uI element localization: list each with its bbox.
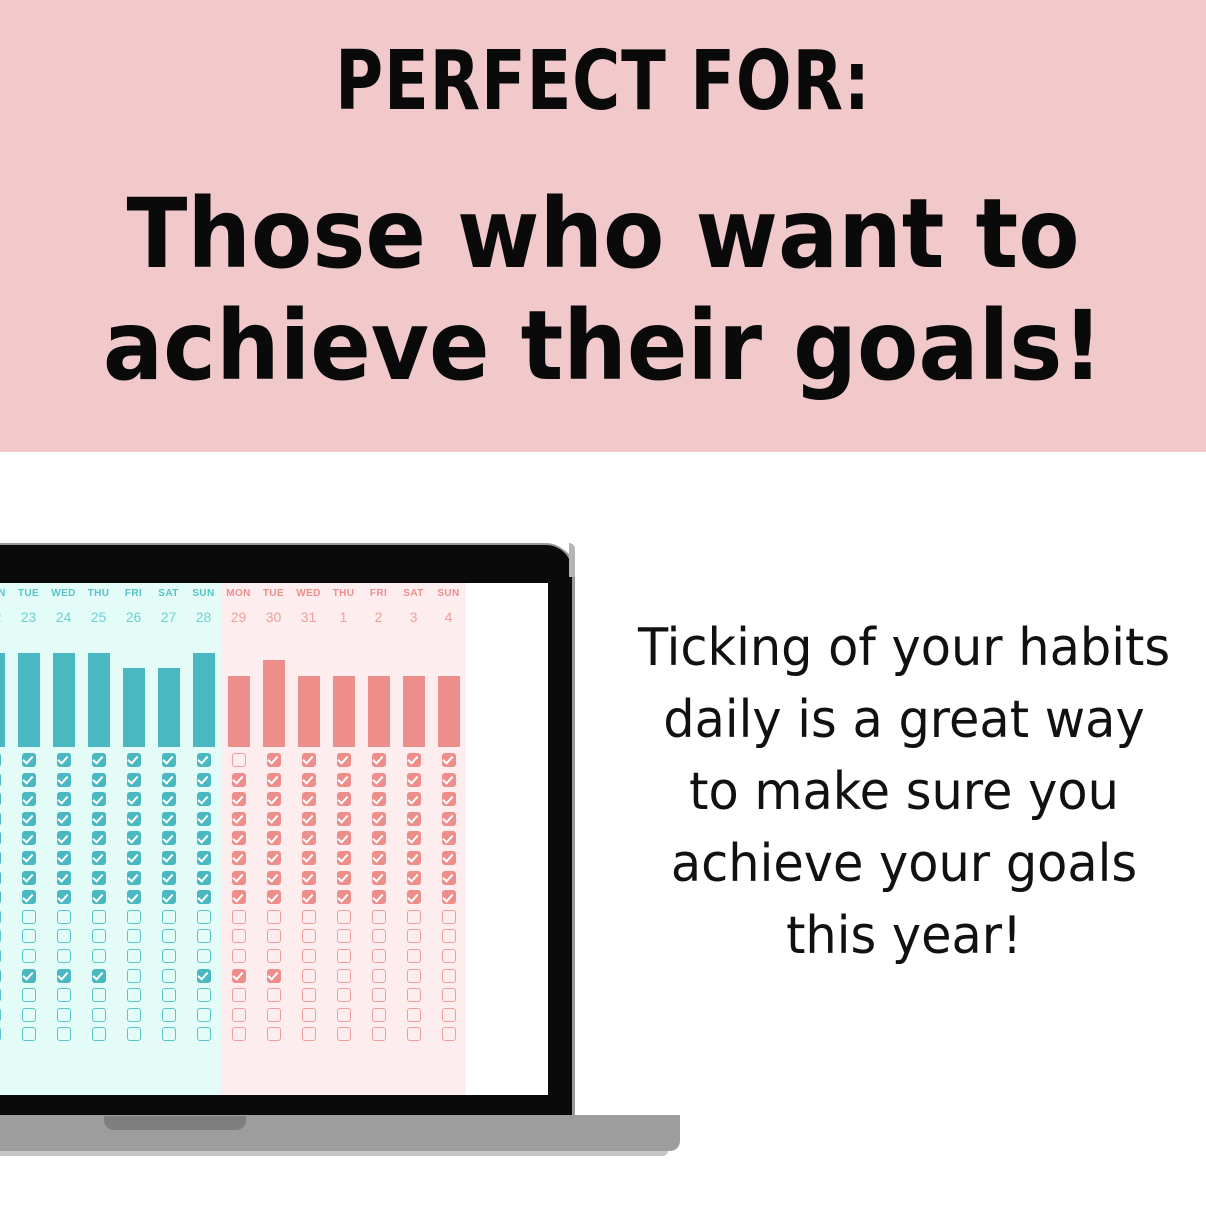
day-column[interactable]: SUN4 <box>431 583 466 1095</box>
habit-checkbox-unchecked[interactable] <box>302 969 316 983</box>
habit-checkbox-unchecked[interactable] <box>442 910 456 924</box>
habit-checkbox-checked[interactable] <box>407 831 421 845</box>
habit-checkbox-checked[interactable] <box>442 812 456 826</box>
day-header: THU1 <box>326 583 361 629</box>
habit-checkbox-checked[interactable] <box>232 792 246 806</box>
habit-checkbox-checked[interactable] <box>372 831 386 845</box>
habit-checkbox-checked[interactable] <box>162 851 176 865</box>
habit-checkbox-unchecked[interactable] <box>302 910 316 924</box>
day-header: SUN4 <box>431 583 466 629</box>
habit-checkbox-checked[interactable] <box>22 871 36 885</box>
habit-checkbox-checked[interactable] <box>337 773 351 787</box>
day-number: 3 <box>410 605 418 629</box>
bar-cell <box>151 629 186 749</box>
habit-checkbox-unchecked[interactable] <box>92 929 106 943</box>
habit-checkbox-checked[interactable] <box>0 773 1 787</box>
habit-checkbox-checked[interactable] <box>442 871 456 885</box>
promo-paragraph: Ticking of your habits daily is a great … <box>632 612 1175 972</box>
habit-checkbox-checked[interactable] <box>57 890 71 904</box>
habit-checkbox-checked[interactable] <box>22 969 36 983</box>
habit-checkbox-unchecked[interactable] <box>407 929 421 943</box>
habit-checkbox-unchecked[interactable] <box>442 988 456 1002</box>
habit-checkbox-checked[interactable] <box>337 890 351 904</box>
habit-checkbox-checked[interactable] <box>442 851 456 865</box>
habit-checkbox-checked[interactable] <box>92 792 106 806</box>
habit-checkbox-checked[interactable] <box>127 792 141 806</box>
habit-checkbox-unchecked[interactable] <box>162 969 176 983</box>
habit-checkbox-checked[interactable] <box>337 753 351 767</box>
habit-checkbox-checked[interactable] <box>232 871 246 885</box>
habit-checkbox-unchecked[interactable] <box>22 910 36 924</box>
completion-bar <box>438 676 460 747</box>
habit-checkbox-checked[interactable] <box>302 812 316 826</box>
completion-bar <box>228 676 250 747</box>
habit-checkbox-checked[interactable] <box>197 871 211 885</box>
habit-checkbox-unchecked[interactable] <box>302 1008 316 1022</box>
habit-checkbox-unchecked[interactable] <box>372 1027 386 1041</box>
habit-checkbox-column <box>162 749 176 1041</box>
habit-checkbox-checked[interactable] <box>267 831 281 845</box>
habit-checkbox-unchecked[interactable] <box>372 969 386 983</box>
habit-checkbox-unchecked[interactable] <box>407 1008 421 1022</box>
habit-checkbox-unchecked[interactable] <box>372 929 386 943</box>
habit-checkbox-checked[interactable] <box>372 792 386 806</box>
habit-checkbox-unchecked[interactable] <box>407 969 421 983</box>
habit-checkbox-checked[interactable] <box>407 890 421 904</box>
habit-checkbox-unchecked[interactable] <box>337 969 351 983</box>
day-number: 24 <box>56 605 72 629</box>
day-column[interactable]: SAT3 <box>396 583 431 1095</box>
habit-checkbox-checked[interactable] <box>92 753 106 767</box>
day-number: 29 <box>231 605 247 629</box>
habit-checkbox-checked[interactable] <box>0 890 1 904</box>
bar-cell <box>221 629 256 749</box>
bar-cell <box>361 629 396 749</box>
habit-checkbox-checked[interactable] <box>267 753 281 767</box>
habit-checkbox-checked[interactable] <box>0 851 1 865</box>
habit-checkbox-checked[interactable] <box>92 831 106 845</box>
day-number: 26 <box>126 605 142 629</box>
habit-checkbox-checked[interactable] <box>162 792 176 806</box>
habit-checkbox-checked[interactable] <box>22 773 36 787</box>
day-number: 25 <box>91 605 107 629</box>
habit-checkbox-unchecked[interactable] <box>92 949 106 963</box>
habit-checkbox-checked[interactable] <box>302 831 316 845</box>
weekday-label: MON <box>226 583 251 605</box>
habit-checkbox-checked[interactable] <box>442 753 456 767</box>
habit-tracker-grid: SAT20SUN21MON22TUE23WED24THU25FRI26SAT27… <box>0 583 466 1095</box>
habit-checkbox-unchecked[interactable] <box>442 1027 456 1041</box>
weekday-label: FRI <box>370 583 387 605</box>
day-column[interactable]: TUE23 <box>11 583 46 1095</box>
habit-checkbox-checked[interactable] <box>442 831 456 845</box>
habit-checkbox-unchecked[interactable] <box>302 949 316 963</box>
day-column[interactable]: WED31 <box>291 583 326 1095</box>
habit-checkbox-checked[interactable] <box>127 831 141 845</box>
habit-checkbox-column <box>22 749 36 1041</box>
habit-checkbox-checked[interactable] <box>267 792 281 806</box>
day-column[interactable]: WED24 <box>46 583 81 1095</box>
habit-checkbox-unchecked[interactable] <box>92 1008 106 1022</box>
habit-checkbox-unchecked[interactable] <box>197 988 211 1002</box>
habit-checkbox-checked[interactable] <box>57 812 71 826</box>
habit-checkbox-checked[interactable] <box>442 890 456 904</box>
habit-checkbox-checked[interactable] <box>337 812 351 826</box>
habit-checkbox-checked[interactable] <box>162 871 176 885</box>
habit-checkbox-column <box>302 749 316 1041</box>
habit-checkbox-unchecked[interactable] <box>407 1027 421 1041</box>
habit-checkbox-checked[interactable] <box>232 812 246 826</box>
habit-checkbox-checked[interactable] <box>57 871 71 885</box>
habit-checkbox-checked[interactable] <box>267 851 281 865</box>
habit-checkbox-checked[interactable] <box>372 871 386 885</box>
habit-checkbox-column <box>442 749 456 1041</box>
habit-checkbox-checked[interactable] <box>372 773 386 787</box>
bar-cell <box>116 629 151 749</box>
habit-checkbox-unchecked[interactable] <box>267 910 281 924</box>
habit-checkbox-column <box>407 749 421 1041</box>
habit-checkbox-unchecked[interactable] <box>57 1027 71 1041</box>
habit-checkbox-unchecked[interactable] <box>232 753 246 767</box>
habit-checkbox-checked[interactable] <box>0 969 1 983</box>
weekday-label: MON <box>0 583 6 605</box>
habit-checkbox-unchecked[interactable] <box>232 988 246 1002</box>
habit-checkbox-checked[interactable] <box>22 890 36 904</box>
habit-checkbox-checked[interactable] <box>442 792 456 806</box>
habit-checkbox-checked[interactable] <box>57 753 71 767</box>
habit-checkbox-checked[interactable] <box>127 812 141 826</box>
habit-checkbox-checked[interactable] <box>22 792 36 806</box>
habit-checkbox-unchecked[interactable] <box>442 1008 456 1022</box>
habit-checkbox-checked[interactable] <box>22 812 36 826</box>
headline-line-1: Those who want to <box>98 178 1108 290</box>
day-column[interactable]: TUE30 <box>256 583 291 1095</box>
habit-checkbox-unchecked[interactable] <box>267 1008 281 1022</box>
habit-checkbox-checked[interactable] <box>127 753 141 767</box>
habit-checkbox-unchecked[interactable] <box>442 949 456 963</box>
day-header: SAT3 <box>396 583 431 629</box>
habit-checkbox-unchecked[interactable] <box>267 988 281 1002</box>
habit-checkbox-unchecked[interactable] <box>232 949 246 963</box>
habit-checkbox-unchecked[interactable] <box>302 988 316 1002</box>
habit-checkbox-unchecked[interactable] <box>372 988 386 1002</box>
bar-cell <box>46 629 81 749</box>
completion-bar <box>158 668 180 747</box>
habit-checkbox-unchecked[interactable] <box>92 988 106 1002</box>
day-header: SAT27 <box>151 583 186 629</box>
habit-checkbox-checked[interactable] <box>302 851 316 865</box>
day-column[interactable]: MON22 <box>0 583 11 1095</box>
habit-checkbox-checked[interactable] <box>197 969 211 983</box>
habit-checkbox-unchecked[interactable] <box>337 929 351 943</box>
habit-checkbox-checked[interactable] <box>197 773 211 787</box>
habit-checkbox-checked[interactable] <box>92 871 106 885</box>
day-header: MON29 <box>221 583 256 629</box>
header-band: PERFECT FOR: Those who want to achieve t… <box>0 0 1206 452</box>
habit-checkbox-unchecked[interactable] <box>22 949 36 963</box>
bar-cell <box>326 629 361 749</box>
habit-checkbox-checked[interactable] <box>232 890 246 904</box>
habit-checkbox-checked[interactable] <box>22 851 36 865</box>
weekday-label: WED <box>51 583 76 605</box>
habit-checkbox-unchecked[interactable] <box>197 910 211 924</box>
habit-checkbox-checked[interactable] <box>57 773 71 787</box>
habit-checkbox-unchecked[interactable] <box>232 910 246 924</box>
habit-checkbox-checked[interactable] <box>162 753 176 767</box>
habit-checkbox-checked[interactable] <box>232 831 246 845</box>
day-number: 2 <box>375 605 383 629</box>
habit-checkbox-unchecked[interactable] <box>162 1008 176 1022</box>
habit-checkbox-checked[interactable] <box>197 753 211 767</box>
habit-checkbox-checked[interactable] <box>407 753 421 767</box>
habit-checkbox-unchecked[interactable] <box>0 1027 1 1041</box>
habit-checkbox-unchecked[interactable] <box>57 929 71 943</box>
habit-checkbox-unchecked[interactable] <box>372 949 386 963</box>
habit-checkbox-unchecked[interactable] <box>197 949 211 963</box>
habit-checkbox-unchecked[interactable] <box>127 910 141 924</box>
bar-cell <box>256 629 291 749</box>
habit-checkbox-unchecked[interactable] <box>407 949 421 963</box>
habit-checkbox-checked[interactable] <box>302 792 316 806</box>
habit-checkbox-checked[interactable] <box>442 773 456 787</box>
habit-checkbox-checked[interactable] <box>197 792 211 806</box>
habit-checkbox-unchecked[interactable] <box>162 988 176 1002</box>
habit-checkbox-column <box>197 749 211 1041</box>
completion-bar <box>0 653 5 747</box>
habit-checkbox-unchecked[interactable] <box>197 929 211 943</box>
habit-checkbox-unchecked[interactable] <box>22 929 36 943</box>
weekday-label: FRI <box>125 583 142 605</box>
habit-checkbox-checked[interactable] <box>127 851 141 865</box>
habit-checkbox-checked[interactable] <box>267 890 281 904</box>
habit-checkbox-unchecked[interactable] <box>0 949 1 963</box>
habit-checkbox-unchecked[interactable] <box>127 929 141 943</box>
day-header: MON22 <box>0 583 11 629</box>
day-header: WED24 <box>46 583 81 629</box>
habit-checkbox-unchecked[interactable] <box>127 1008 141 1022</box>
habit-checkbox-checked[interactable] <box>197 812 211 826</box>
habit-checkbox-unchecked[interactable] <box>0 910 1 924</box>
day-column[interactable]: FRI26 <box>116 583 151 1095</box>
day-column[interactable]: THU1 <box>326 583 361 1095</box>
habit-checkbox-checked[interactable] <box>372 890 386 904</box>
habit-checkbox-unchecked[interactable] <box>197 1008 211 1022</box>
habit-checkbox-checked[interactable] <box>267 812 281 826</box>
habit-checkbox-checked[interactable] <box>0 753 1 767</box>
habit-checkbox-checked[interactable] <box>337 792 351 806</box>
weekday-label: SUN <box>437 583 459 605</box>
habit-checkbox-checked[interactable] <box>372 812 386 826</box>
habit-checkbox-checked[interactable] <box>407 812 421 826</box>
habit-checkbox-checked[interactable] <box>57 831 71 845</box>
weekday-label: THU <box>333 583 355 605</box>
habit-checkbox-column <box>127 749 141 1041</box>
habit-checkbox-unchecked[interactable] <box>442 929 456 943</box>
completion-bar <box>298 676 320 747</box>
completion-bar <box>368 676 390 747</box>
habit-checkbox-checked[interactable] <box>337 851 351 865</box>
day-number: 4 <box>445 605 453 629</box>
habit-checkbox-checked[interactable] <box>0 871 1 885</box>
habit-checkbox-checked[interactable] <box>267 969 281 983</box>
habit-checkbox-checked[interactable] <box>197 851 211 865</box>
habit-checkbox-unchecked[interactable] <box>442 969 456 983</box>
habit-checkbox-checked[interactable] <box>232 969 246 983</box>
habit-checkbox-unchecked[interactable] <box>267 929 281 943</box>
habit-checkbox-checked[interactable] <box>267 871 281 885</box>
habit-checkbox-unchecked[interactable] <box>57 910 71 924</box>
habit-checkbox-checked[interactable] <box>337 831 351 845</box>
habit-checkbox-checked[interactable] <box>22 831 36 845</box>
habit-checkbox-unchecked[interactable] <box>337 988 351 1002</box>
day-header: SUN28 <box>186 583 221 629</box>
habit-checkbox-unchecked[interactable] <box>232 1027 246 1041</box>
habit-checkbox-checked[interactable] <box>267 773 281 787</box>
habit-checkbox-unchecked[interactable] <box>0 1008 1 1022</box>
habit-checkbox-checked[interactable] <box>372 851 386 865</box>
habit-checkbox-checked[interactable] <box>127 871 141 885</box>
habit-checkbox-unchecked[interactable] <box>337 1008 351 1022</box>
day-column[interactable]: MON29 <box>221 583 256 1095</box>
habit-checkbox-checked[interactable] <box>162 812 176 826</box>
day-column[interactable]: SAT27 <box>151 583 186 1095</box>
habit-checkbox-checked[interactable] <box>57 851 71 865</box>
habit-checkbox-unchecked[interactable] <box>57 949 71 963</box>
day-header: TUE23 <box>11 583 46 629</box>
habit-checkbox-unchecked[interactable] <box>22 988 36 1002</box>
completion-bar <box>123 668 145 747</box>
habit-checkbox-unchecked[interactable] <box>22 1027 36 1041</box>
habit-checkbox-column <box>372 749 386 1041</box>
habit-checkbox-checked[interactable] <box>407 871 421 885</box>
week-segment-teal: MON22TUE23WED24THU25FRI26SAT27SUN28 <box>0 583 221 1095</box>
habit-checkbox-column <box>57 749 71 1041</box>
laptop-mockup: SAT20SUN21MON22TUE23WED24THU25FRI26SAT27… <box>0 545 580 1145</box>
habit-checkbox-checked[interactable] <box>302 871 316 885</box>
habit-checkbox-checked[interactable] <box>57 969 71 983</box>
day-column[interactable]: THU25 <box>81 583 116 1095</box>
habit-checkbox-checked[interactable] <box>0 792 1 806</box>
laptop-screen: SAT20SUN21MON22TUE23WED24THU25FRI26SAT27… <box>0 583 548 1095</box>
habit-checkbox-unchecked[interactable] <box>337 1027 351 1041</box>
habit-checkbox-unchecked[interactable] <box>232 1008 246 1022</box>
habit-checkbox-checked[interactable] <box>92 812 106 826</box>
habit-checkbox-unchecked[interactable] <box>162 910 176 924</box>
habit-checkbox-checked[interactable] <box>372 753 386 767</box>
habit-checkbox-checked[interactable] <box>0 812 1 826</box>
day-column[interactable]: SUN28 <box>186 583 221 1095</box>
habit-checkbox-checked[interactable] <box>407 792 421 806</box>
habit-checkbox-checked[interactable] <box>162 890 176 904</box>
habit-checkbox-unchecked[interactable] <box>302 1027 316 1041</box>
kicker-text: PERFECT FOR: <box>121 38 1086 126</box>
weekday-label: SAT <box>403 583 423 605</box>
weekday-label: TUE <box>18 583 39 605</box>
habit-checkbox-checked[interactable] <box>127 890 141 904</box>
habit-checkbox-checked[interactable] <box>127 773 141 787</box>
habit-checkbox-checked[interactable] <box>0 831 1 845</box>
laptop-trackpad-notch <box>104 1116 246 1130</box>
day-number: 30 <box>266 605 282 629</box>
bar-cell <box>186 629 221 749</box>
habit-checkbox-unchecked[interactable] <box>162 949 176 963</box>
habit-checkbox-unchecked[interactable] <box>372 1008 386 1022</box>
habit-checkbox-checked[interactable] <box>197 831 211 845</box>
weekday-label: WED <box>296 583 321 605</box>
bar-cell <box>431 629 466 749</box>
weekday-label: TUE <box>263 583 284 605</box>
habit-checkbox-unchecked[interactable] <box>92 910 106 924</box>
habit-checkbox-unchecked[interactable] <box>407 988 421 1002</box>
habit-checkbox-checked[interactable] <box>302 753 316 767</box>
habit-checkbox-unchecked[interactable] <box>57 988 71 1002</box>
habit-checkbox-unchecked[interactable] <box>92 1027 106 1041</box>
completion-bar <box>18 653 40 747</box>
habit-checkbox-column <box>0 749 1 1041</box>
habit-checkbox-unchecked[interactable] <box>302 929 316 943</box>
day-number: 31 <box>301 605 317 629</box>
habit-checkbox-checked[interactable] <box>197 890 211 904</box>
habit-checkbox-checked[interactable] <box>92 890 106 904</box>
habit-checkbox-unchecked[interactable] <box>337 910 351 924</box>
habit-checkbox-checked[interactable] <box>407 773 421 787</box>
completion-bar <box>53 653 75 747</box>
habit-checkbox-unchecked[interactable] <box>162 1027 176 1041</box>
weekday-label: SAT <box>158 583 178 605</box>
habit-checkbox-unchecked[interactable] <box>0 929 1 943</box>
habit-checkbox-unchecked[interactable] <box>232 929 246 943</box>
habit-checkbox-unchecked[interactable] <box>372 910 386 924</box>
habit-checkbox-checked[interactable] <box>302 773 316 787</box>
habit-checkbox-unchecked[interactable] <box>127 949 141 963</box>
habit-checkbox-unchecked[interactable] <box>127 969 141 983</box>
habit-checkbox-checked[interactable] <box>302 890 316 904</box>
habit-checkbox-checked[interactable] <box>22 753 36 767</box>
day-header: FRI26 <box>116 583 151 629</box>
habit-checkbox-unchecked[interactable] <box>57 1008 71 1022</box>
habit-checkbox-checked[interactable] <box>162 831 176 845</box>
habit-checkbox-checked[interactable] <box>407 851 421 865</box>
habit-checkbox-checked[interactable] <box>92 851 106 865</box>
habit-checkbox-column <box>232 749 246 1041</box>
habit-checkbox-checked[interactable] <box>162 773 176 787</box>
habit-checkbox-unchecked[interactable] <box>127 1027 141 1041</box>
weekday-label: SUN <box>192 583 214 605</box>
habit-checkbox-checked[interactable] <box>92 773 106 787</box>
habit-checkbox-unchecked[interactable] <box>407 910 421 924</box>
day-number: 22 <box>0 605 1 629</box>
completion-bar <box>333 676 355 747</box>
day-number: 28 <box>196 605 212 629</box>
habit-checkbox-unchecked[interactable] <box>337 949 351 963</box>
habit-checkbox-checked[interactable] <box>337 871 351 885</box>
habit-checkbox-unchecked[interactable] <box>197 1027 211 1041</box>
day-column[interactable]: FRI2 <box>361 583 396 1095</box>
habit-checkbox-checked[interactable] <box>232 851 246 865</box>
habit-checkbox-checked[interactable] <box>232 773 246 787</box>
habit-checkbox-checked[interactable] <box>57 792 71 806</box>
day-header: FRI2 <box>361 583 396 629</box>
habit-checkbox-unchecked[interactable] <box>22 1008 36 1022</box>
habit-checkbox-unchecked[interactable] <box>162 929 176 943</box>
habit-checkbox-unchecked[interactable] <box>127 988 141 1002</box>
bar-cell <box>0 629 11 749</box>
habit-checkbox-unchecked[interactable] <box>267 1027 281 1041</box>
day-number: 1 <box>340 605 348 629</box>
habit-checkbox-unchecked[interactable] <box>267 949 281 963</box>
habit-checkbox-checked[interactable] <box>92 969 106 983</box>
habit-checkbox-unchecked[interactable] <box>0 988 1 1002</box>
